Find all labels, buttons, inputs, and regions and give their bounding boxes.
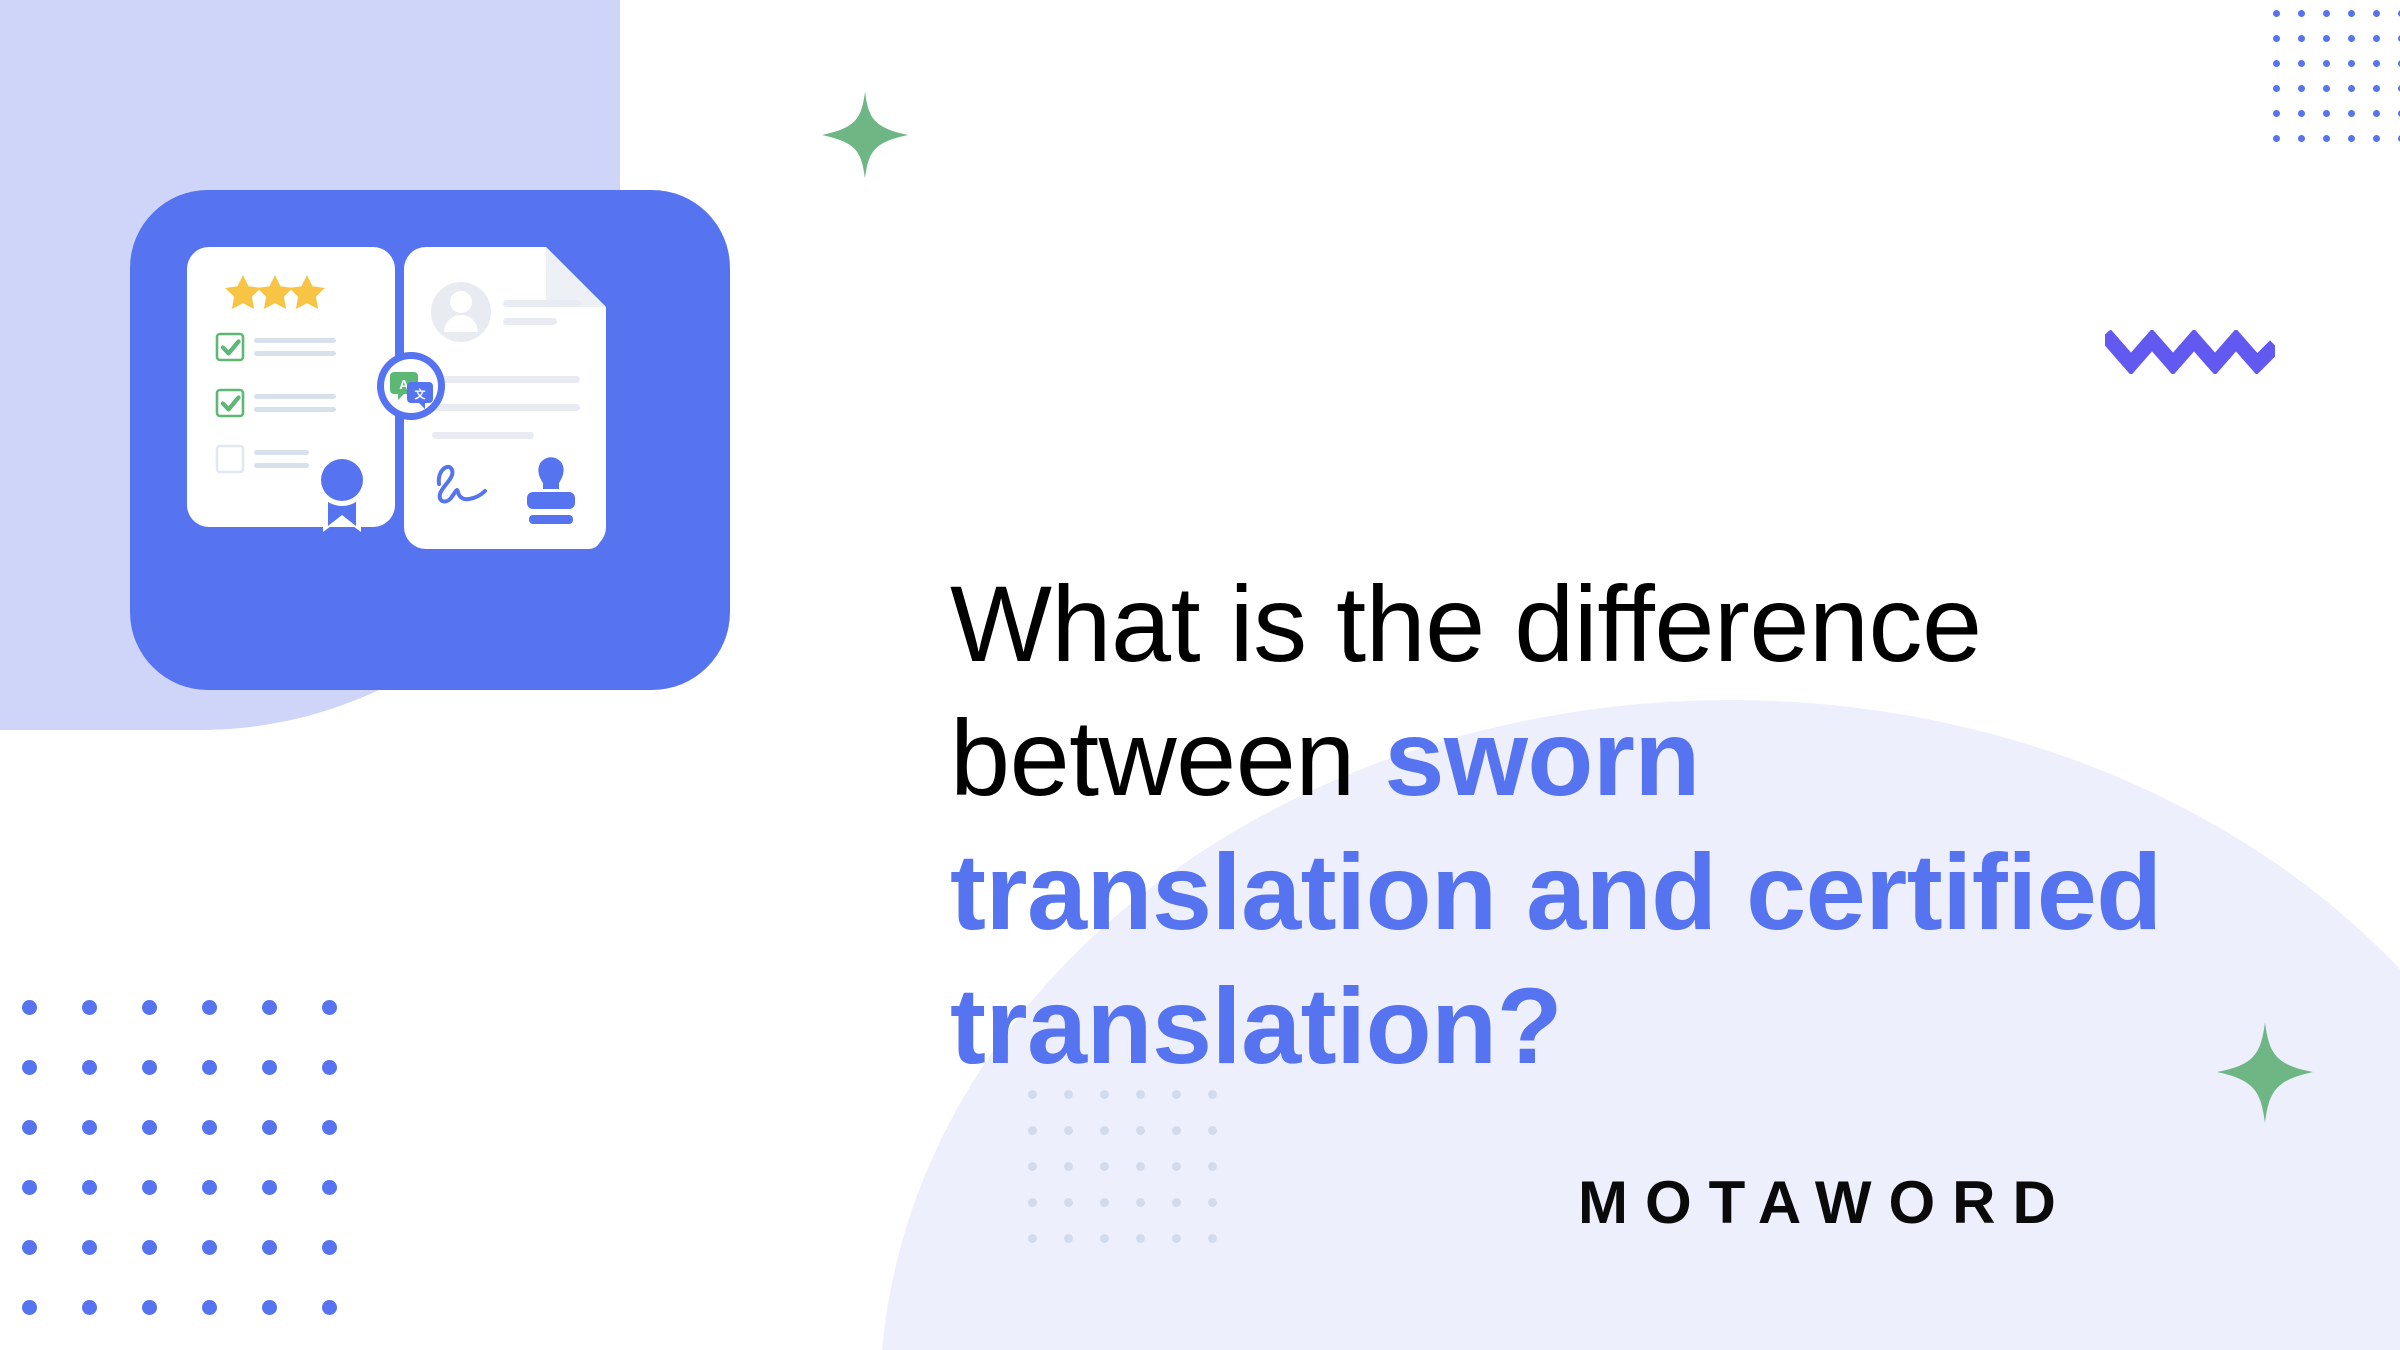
dot bbox=[1136, 1126, 1145, 1135]
dot bbox=[2298, 10, 2305, 17]
dot bbox=[1208, 1234, 1217, 1243]
dot bbox=[262, 1240, 277, 1255]
dot bbox=[262, 1120, 277, 1135]
dot bbox=[1136, 1234, 1145, 1243]
dot bbox=[1064, 1198, 1073, 1207]
dot bbox=[322, 1120, 337, 1135]
dot-grid-bottom-left bbox=[22, 1000, 382, 1350]
promo-banner: A 文 What is the difference between sworn… bbox=[0, 0, 2400, 1350]
dot bbox=[1028, 1234, 1037, 1243]
dot bbox=[2348, 35, 2355, 42]
dot bbox=[262, 1060, 277, 1075]
dot bbox=[262, 1300, 277, 1315]
dot bbox=[202, 1240, 217, 1255]
dot bbox=[142, 1120, 157, 1135]
dot bbox=[2298, 60, 2305, 67]
dot bbox=[1028, 1198, 1037, 1207]
dot bbox=[1208, 1162, 1217, 1171]
sparkle-star-icon bbox=[820, 90, 910, 185]
dot bbox=[262, 1000, 277, 1015]
dot bbox=[22, 1120, 37, 1135]
dot bbox=[2323, 10, 2330, 17]
dot bbox=[22, 1060, 37, 1075]
dot bbox=[82, 1000, 97, 1015]
dot bbox=[82, 1300, 97, 1315]
dot bbox=[2273, 85, 2280, 92]
dot bbox=[1100, 1126, 1109, 1135]
dot bbox=[1028, 1162, 1037, 1171]
dot bbox=[82, 1240, 97, 1255]
dot bbox=[2348, 10, 2355, 17]
dot bbox=[2373, 60, 2380, 67]
certificate-card bbox=[187, 247, 395, 532]
dot bbox=[1100, 1198, 1109, 1207]
dot bbox=[202, 1180, 217, 1195]
headline-line-2-accent: sworn bbox=[1384, 697, 1700, 818]
dot bbox=[2273, 135, 2280, 142]
dot bbox=[2348, 135, 2355, 142]
headline-line-3: translation and bbox=[950, 831, 1717, 952]
dot bbox=[1064, 1234, 1073, 1243]
dot bbox=[82, 1060, 97, 1075]
dot bbox=[322, 1060, 337, 1075]
dot bbox=[2273, 35, 2280, 42]
dot bbox=[2373, 35, 2380, 42]
dot bbox=[82, 1180, 97, 1195]
dot bbox=[142, 1180, 157, 1195]
dot bbox=[142, 1000, 157, 1015]
dot bbox=[2348, 60, 2355, 67]
illustration-sworn-vs-certified: A 文 bbox=[130, 190, 790, 738]
dot bbox=[1208, 1126, 1217, 1135]
dot bbox=[322, 1000, 337, 1015]
dot bbox=[2298, 135, 2305, 142]
dot-grid-center bbox=[1028, 1090, 1244, 1270]
dot bbox=[202, 1120, 217, 1135]
dot bbox=[82, 1120, 97, 1135]
user-avatar-icon bbox=[431, 282, 491, 342]
dot bbox=[22, 1000, 37, 1015]
dot bbox=[1064, 1162, 1073, 1171]
dot bbox=[1172, 1234, 1181, 1243]
dot bbox=[2298, 110, 2305, 117]
dot bbox=[142, 1240, 157, 1255]
headline-line-2-plain: between bbox=[950, 697, 1384, 818]
dot bbox=[2298, 85, 2305, 92]
dot bbox=[2348, 85, 2355, 92]
dot bbox=[2373, 135, 2380, 142]
dot bbox=[22, 1180, 37, 1195]
dot bbox=[262, 1180, 277, 1195]
dot bbox=[322, 1240, 337, 1255]
dot bbox=[2298, 35, 2305, 42]
dot bbox=[2373, 110, 2380, 117]
dot bbox=[2373, 85, 2380, 92]
dot bbox=[202, 1300, 217, 1315]
headline-line-1: What is the difference bbox=[950, 563, 1982, 684]
dot bbox=[2323, 60, 2330, 67]
dot bbox=[202, 1060, 217, 1075]
dot bbox=[1100, 1162, 1109, 1171]
dot bbox=[2323, 85, 2330, 92]
motaword-logo: MOTAWORD bbox=[1578, 1168, 2073, 1237]
dot bbox=[2373, 10, 2380, 17]
dot bbox=[1172, 1198, 1181, 1207]
dot bbox=[1064, 1126, 1073, 1135]
dot bbox=[322, 1300, 337, 1315]
dot bbox=[1136, 1198, 1145, 1207]
dot bbox=[1172, 1162, 1181, 1171]
dot bbox=[142, 1300, 157, 1315]
dot bbox=[2323, 110, 2330, 117]
dot-grid-top-right bbox=[2273, 10, 2400, 160]
dot bbox=[1172, 1126, 1181, 1135]
dot bbox=[1100, 1234, 1109, 1243]
translate-badge-icon: A 文 bbox=[377, 352, 445, 420]
dot bbox=[322, 1180, 337, 1195]
dot bbox=[2273, 110, 2280, 117]
stamp-icon bbox=[501, 439, 601, 549]
dot bbox=[2323, 35, 2330, 42]
dot bbox=[1136, 1162, 1145, 1171]
dot bbox=[1208, 1198, 1217, 1207]
dot bbox=[22, 1300, 37, 1315]
dot bbox=[2348, 110, 2355, 117]
dot bbox=[2323, 135, 2330, 142]
svg-text:文: 文 bbox=[415, 387, 427, 401]
dot bbox=[202, 1000, 217, 1015]
page-title: What is the difference between sworn tra… bbox=[950, 557, 2240, 1093]
dot bbox=[2273, 60, 2280, 67]
dot bbox=[1028, 1126, 1037, 1135]
dot bbox=[22, 1240, 37, 1255]
zigzag-icon bbox=[2105, 330, 2275, 379]
dot bbox=[142, 1060, 157, 1075]
dot bbox=[2273, 10, 2280, 17]
